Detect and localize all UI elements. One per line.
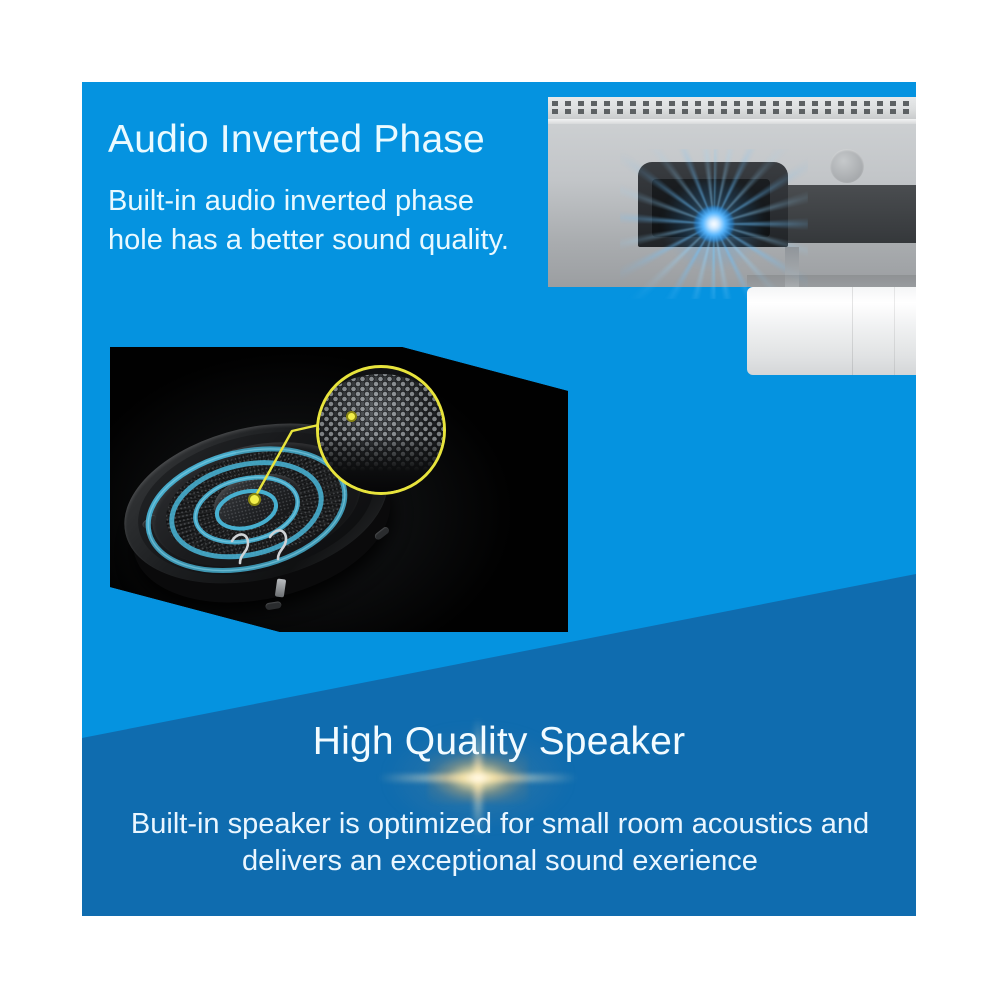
high-quality-speaker-body: Built-in speaker is optimized for small …	[110, 806, 890, 880]
perforated-grille-icon	[548, 97, 916, 119]
device-dark-bar	[782, 185, 916, 243]
infographic-canvas: Audio Inverted Phase Built-in audio inve…	[0, 0, 1000, 1000]
white-cylinder-body	[747, 287, 916, 375]
device-audio-port-photo	[542, 97, 916, 392]
audio-inverted-phase-heading: Audio Inverted Phase	[108, 118, 485, 162]
speaker-driver-photo	[110, 347, 568, 632]
callout-anchor-dot	[248, 493, 261, 506]
magnified-mesh-callout	[316, 365, 446, 495]
audio-port-cavity	[652, 179, 770, 237]
audio-inverted-phase-body: Built-in audio inverted phase hole has a…	[108, 182, 528, 260]
cylinder-seam-2	[894, 287, 895, 375]
device-top-edge	[548, 119, 916, 124]
callout-anchor-dot-magnified	[346, 411, 357, 422]
blue-panel: Audio Inverted Phase Built-in audio inve…	[82, 82, 916, 916]
high-quality-speaker-heading: High Quality Speaker	[82, 720, 916, 764]
round-button-dimple-icon	[830, 149, 864, 183]
cylinder-seam	[852, 287, 853, 375]
